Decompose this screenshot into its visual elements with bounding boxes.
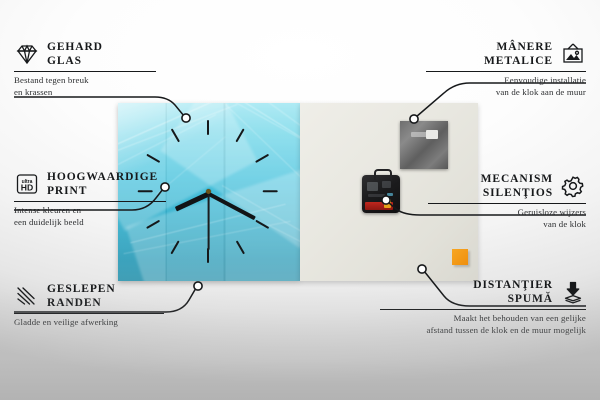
battery-plus-icon: [384, 199, 391, 208]
clock-tick: [207, 120, 209, 135]
feature-title: HOOGWAARDIGE PRINT: [47, 170, 158, 198]
feature-subtitle: Eenvoudige installatie van de klok aan d…: [406, 75, 586, 98]
clock-center-cap: [206, 189, 211, 194]
mechanism-hook: [374, 169, 392, 180]
feature-subtitle: Intense kleuren en een duidelijk beeld: [14, 205, 194, 228]
diamond-icon: [14, 42, 40, 66]
feature-divider: [428, 203, 586, 204]
feature-heading: ultra HD HOOGWAARDIGE PRINT: [14, 170, 194, 198]
feature-title: GEHARD GLAS: [47, 40, 103, 68]
picture-frame-icon: [560, 42, 586, 66]
feature-divider: [380, 309, 586, 310]
feature-subtitle: Bestand tegen breuk en krassen: [14, 75, 182, 98]
clock-second-hand: [208, 194, 210, 250]
feature-manere-metalice: MÂNERE METALICE Eenvoudige installatie v…: [406, 40, 586, 98]
ultra-hd-icon: ultra HD: [14, 172, 40, 196]
feature-gehard-glas: GEHARD GLAS Bestand tegen breuk en krass…: [14, 40, 182, 98]
feature-title: GESLEPEN RANDEN: [47, 282, 116, 310]
feature-heading: DISTANŢIER SPUMĂ: [362, 278, 586, 306]
gear-icon: [560, 174, 586, 198]
feature-heading: MÂNERE METALICE: [406, 40, 586, 68]
feature-heading: MECANISM SILENŢIOS: [410, 172, 586, 200]
feature-divider: [14, 71, 156, 72]
feature-distantier-spuma: DISTANŢIER SPUMĂ Maakt het behouden van …: [362, 278, 586, 336]
feature-mecanism-silentios: MECANISM SILENŢIOS Geruisloze wijzers va…: [410, 172, 586, 230]
feature-title: MECANISM SILENŢIOS: [481, 172, 553, 200]
feature-title: DISTANŢIER SPUMĂ: [473, 278, 553, 306]
connector-dot-geslepen-randen: [194, 282, 202, 290]
feature-heading: GESLEPEN RANDEN: [14, 282, 186, 310]
feature-heading: GEHARD GLAS: [14, 40, 182, 68]
infographic-canvas: GEHARD GLAS Bestand tegen breuk en krass…: [0, 0, 600, 400]
feature-divider: [14, 201, 166, 202]
clock-mechanism: [362, 175, 400, 213]
feature-title: MÂNERE METALICE: [484, 40, 553, 68]
feature-hoogwaardige-print: ultra HD HOOGWAARDIGE PRINT Intense kleu…: [14, 170, 194, 228]
feature-subtitle: Maakt het behouden van een gelijke afsta…: [362, 313, 586, 336]
battery-label: [365, 202, 393, 210]
feature-subtitle: Geruisloze wijzers van de klok: [410, 207, 586, 230]
feature-geslepen-randen: GESLEPEN RANDEN Gladde en veilige afwerk…: [14, 282, 186, 329]
down-arrow-layers-icon: [560, 280, 586, 304]
feature-divider: [426, 71, 586, 72]
metal-hanger-plate: [400, 121, 448, 169]
feature-subtitle: Gladde en veilige afwerking: [14, 317, 186, 329]
feature-divider: [14, 313, 164, 314]
bevelled-edges-icon: [14, 284, 40, 308]
foam-spacer: [452, 249, 468, 265]
svg-text:HD: HD: [21, 183, 33, 193]
clock-tick: [207, 248, 209, 263]
